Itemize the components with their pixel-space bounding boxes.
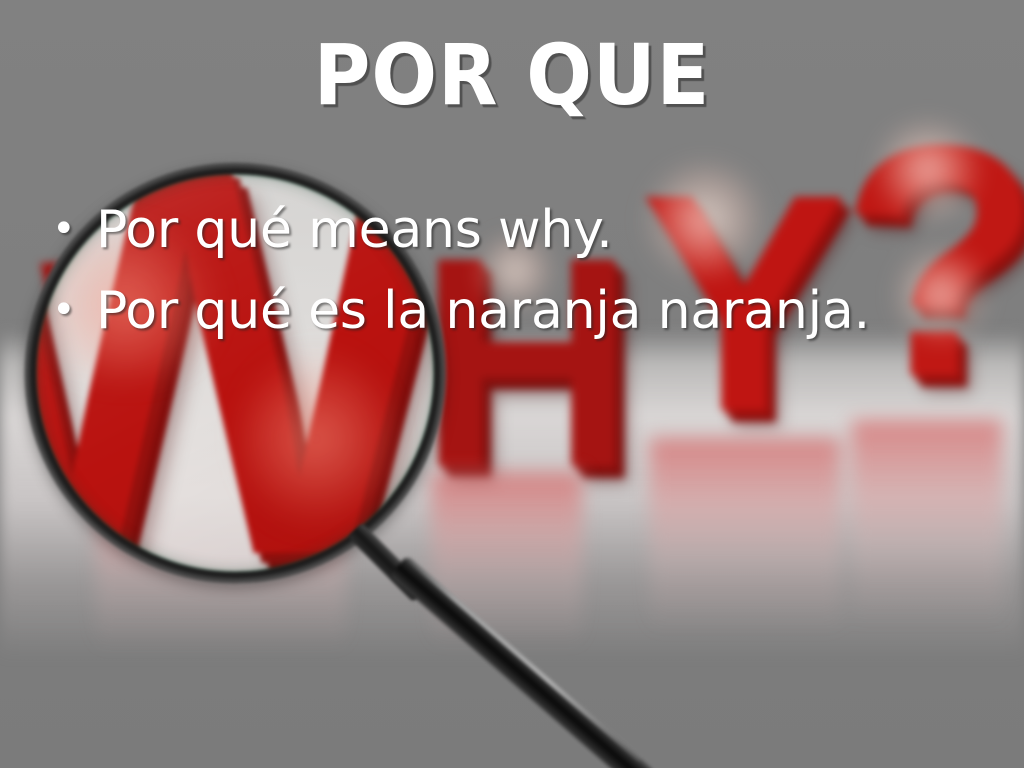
reflection-w xyxy=(96,470,346,650)
page-title: POR QUE xyxy=(41,33,983,117)
bullet-text: Por qué means why. xyxy=(96,200,613,261)
reflection-question-mark xyxy=(852,420,1002,625)
bullet-text: Por qué es la naranja naranja. xyxy=(96,281,870,342)
slide: W H Y ? W xyxy=(0,0,1024,768)
list-item: • Por qué es la naranja naranja. xyxy=(52,281,1008,342)
reflection-h xyxy=(432,472,582,647)
list-item: • Por qué means why. xyxy=(52,200,1008,261)
bullet-list: • Por qué means why. • Por qué es la nar… xyxy=(52,200,1008,362)
bullet-marker-icon: • xyxy=(52,281,96,339)
reflection-y xyxy=(650,438,840,633)
bullet-marker-icon: • xyxy=(52,200,96,258)
